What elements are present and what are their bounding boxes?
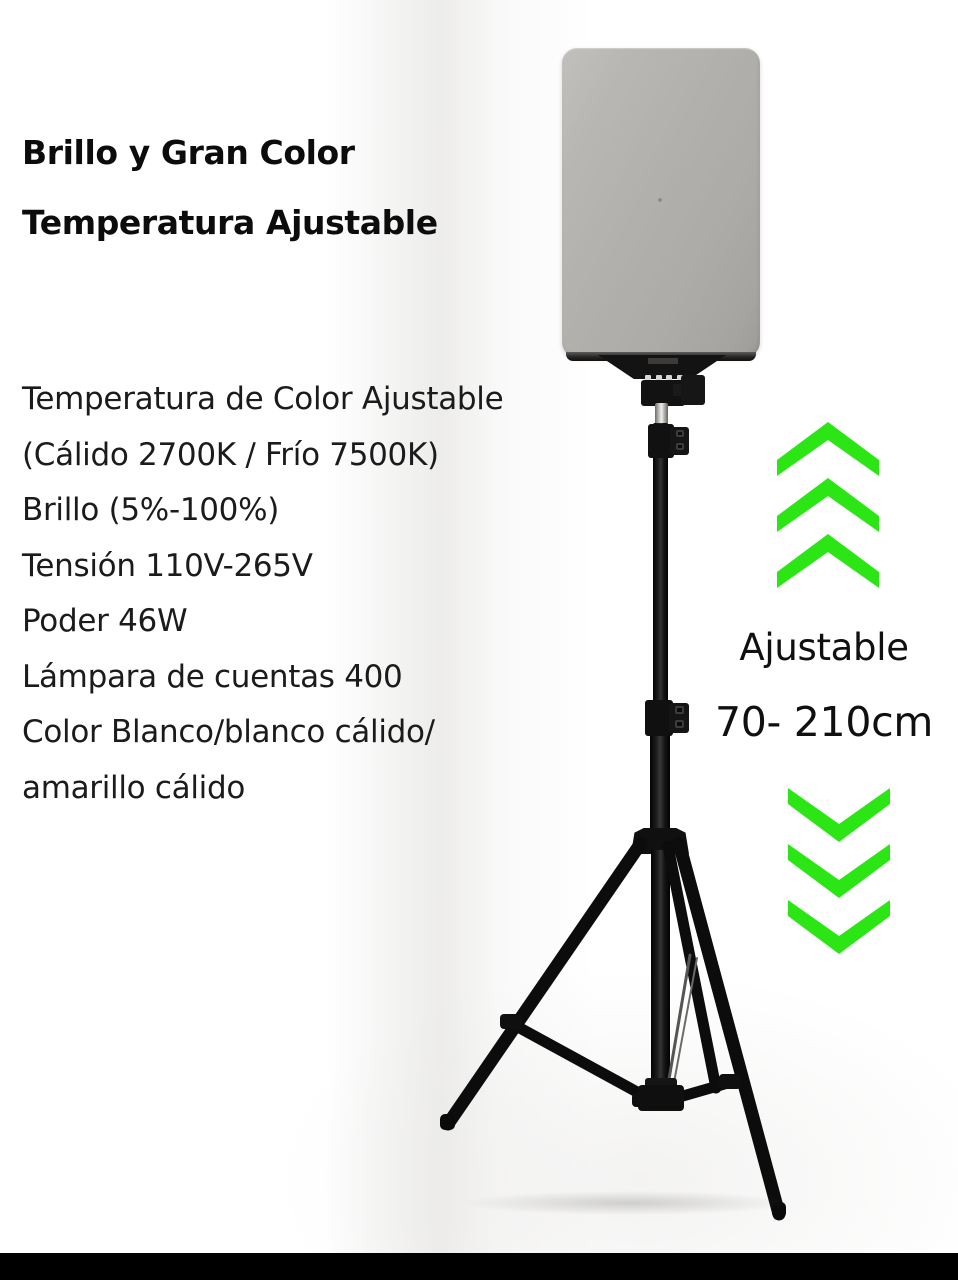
headline-line-2: Temperatura Ajustable (22, 188, 542, 258)
spec-line-voltage: Tensión 110V-265V (22, 539, 622, 595)
headline-line-1: Brillo y Gran Color (22, 118, 542, 188)
chevron-up-triple-icon (775, 420, 895, 596)
spec-line-lamp-beads: Lámpara de cuentas 400 (22, 650, 622, 706)
chevron-up-icon (775, 476, 881, 532)
spec-line-color-temperature-range: (Cálido 2700K / Frío 7500K) (22, 428, 622, 484)
spec-line-power: Poder 46W (22, 594, 622, 650)
brace-collar (638, 1085, 684, 1111)
ground-contact-shadow (398, 1186, 858, 1220)
chevron-up-icon (775, 532, 881, 588)
spec-line-brightness: Brillo (5%-100%) (22, 483, 622, 539)
callout-label-height-range: 70- 210cm (690, 698, 958, 746)
chevron-down-icon (786, 900, 892, 956)
chevron-down-triple-icon (786, 788, 906, 964)
headline: Brillo y Gran Color Temperatura Ajustabl… (22, 118, 542, 258)
chevron-down-icon (786, 844, 892, 900)
spec-line-color-temperature: Temperatura de Color Ajustable (22, 372, 622, 428)
specification-list: Temperatura de Color Ajustable (Cálido 2… (22, 372, 622, 816)
callout-label-adjustable: Ajustable (690, 626, 958, 669)
height-adjust-callout: Ajustable 70- 210cm (690, 420, 958, 596)
spec-line-color-options: Color Blanco/blanco cálido/ (22, 705, 622, 761)
spec-line-color-options-cont: amarillo cálido (22, 761, 622, 817)
chevron-up-icon (775, 420, 881, 476)
chevron-down-icon (786, 788, 892, 844)
bottom-black-bar (0, 1253, 958, 1280)
infographic-page: Brillo y Gran Color Temperatura Ajustabl… (0, 0, 958, 1280)
